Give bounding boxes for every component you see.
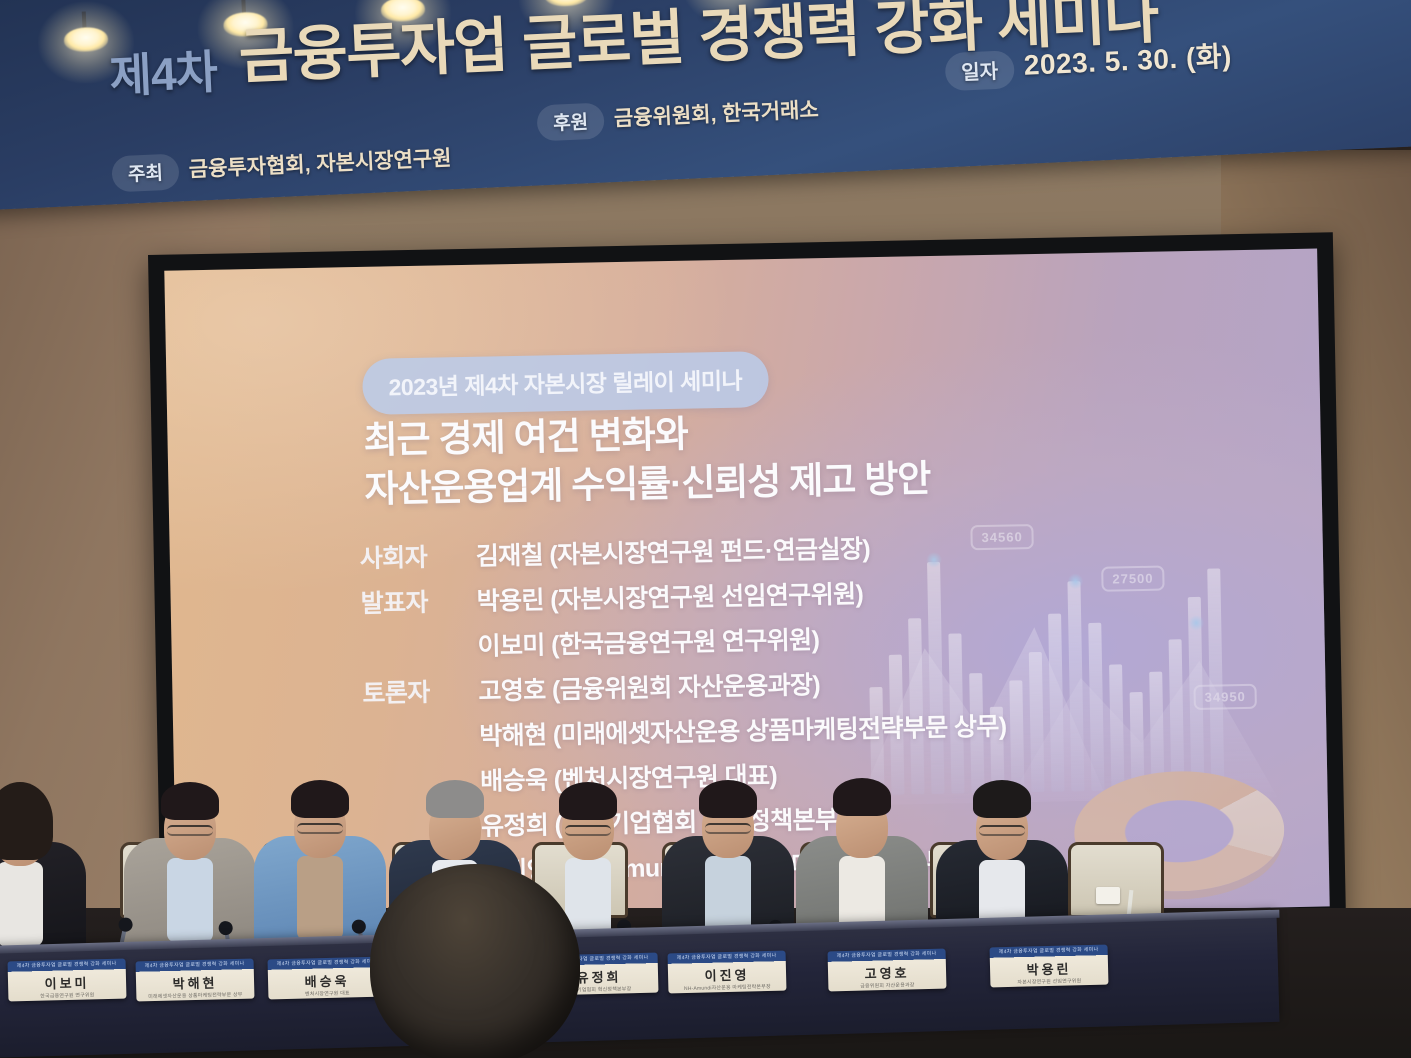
slide-tag: 2023년 제4차 자본시장 릴레이 세미나 bbox=[362, 351, 769, 415]
nameplate-subtitle: 미래에셋자산운용 상품마케팅전략부문 상무 bbox=[136, 991, 254, 1001]
conference-photo: 제4차 금융투자업 글로벌 경쟁력 강화 세미나 주최금융투자협회, 자본시장연… bbox=[0, 0, 1411, 1058]
roster-role: 토론자 bbox=[362, 672, 479, 710]
glasses-icon bbox=[565, 825, 611, 836]
roster-role: 사회자 bbox=[359, 537, 476, 575]
nameplate-subtitle: 한국금융연구원 연구위원 bbox=[8, 991, 126, 1001]
nameplate-header: 제4차 금융투자업 글로벌 경쟁력 강화 세미나 bbox=[268, 957, 386, 970]
roster-row: 이보미 (한국금융연구원 연구위원) bbox=[361, 617, 1005, 665]
nameplate-header: 제4차 금융투자업 글로벌 경쟁력 강화 세미나 bbox=[990, 945, 1108, 958]
bar bbox=[1169, 639, 1185, 789]
banner-date-label: 일자 bbox=[944, 51, 1014, 92]
chart-annotation: 34950 bbox=[1193, 684, 1257, 710]
roster-name: 고영호 (금융위원회 자산운용과장) bbox=[478, 665, 820, 708]
roster-row: 토론자 고영호 (금융위원회 자산운용과장) bbox=[362, 662, 1006, 710]
glasses-icon bbox=[297, 823, 343, 834]
nameplate-header: 제4차 금융투자업 글로벌 경쟁력 강화 세미나 bbox=[668, 951, 786, 964]
nameplate: 제4차 금융투자업 글로벌 경쟁력 강화 세미나 고영호 금융위원회 자산운용과… bbox=[828, 949, 947, 992]
nameplate-subtitle: 금융위원회 자산운용과장 bbox=[828, 981, 946, 991]
nameplate: 제4차 금융투자업 글로벌 경쟁력 강화 세미나 배승욱 벤처시장연구원 대표 bbox=[268, 957, 387, 1000]
bar bbox=[1109, 664, 1124, 790]
glasses-icon bbox=[979, 825, 1025, 836]
roster-role: 발표자 bbox=[360, 582, 477, 620]
nameplate-header: 제4차 금융투자업 글로벌 경쟁력 강화 세미나 bbox=[136, 959, 254, 972]
roster-name: 유정희 (벤처기업협회 혁신정책본부장) bbox=[481, 799, 868, 842]
nameplate-header: 제4차 금융투자업 글로벌 경쟁력 강화 세미나 bbox=[828, 949, 946, 962]
banner-host: 주최금융투자협회, 자본시장연구원 bbox=[111, 141, 452, 192]
glasses-icon bbox=[705, 823, 751, 834]
bar bbox=[1009, 680, 1024, 792]
nameplate-subtitle: NH-Amundi자산운용 마케팅전략본부장 bbox=[668, 983, 786, 993]
nameplate-header: 제4차 금융투자업 글로벌 경쟁력 강화 세미나 bbox=[8, 959, 126, 972]
chair bbox=[1068, 842, 1164, 918]
chart-annotation: 27500 bbox=[1101, 566, 1165, 592]
roster-row: 발표자 박용린 (자본시장연구원 선임연구위원) bbox=[360, 572, 1004, 620]
spotlight-icon bbox=[63, 26, 108, 54]
nameplate: 제4차 금융투자업 글로벌 경쟁력 강화 세미나 이보미 한국금융연구원 연구위… bbox=[8, 959, 127, 1002]
banner-sponsor-value: 금융위원회, 한국거래소 bbox=[614, 98, 820, 130]
nameplate: 제4차 금융투자업 글로벌 경쟁력 강화 세미나 박해현 미래에셋자산운용 상품… bbox=[136, 959, 255, 1002]
banner-date-value: 2023. 5. 30. (화) bbox=[1023, 41, 1232, 81]
badge bbox=[1096, 887, 1120, 904]
roster-role bbox=[362, 655, 478, 657]
glasses-icon bbox=[167, 825, 213, 836]
audience-member bbox=[370, 864, 580, 1058]
roster-name: 박용린 (자본시장연구원 선임연구위원) bbox=[476, 574, 863, 617]
bar bbox=[1088, 623, 1104, 791]
roster-name: 이보미 (한국금융연구원 연구위원) bbox=[477, 620, 819, 663]
bar bbox=[1048, 614, 1064, 792]
spark-icon bbox=[1067, 573, 1083, 589]
bar bbox=[1067, 581, 1084, 791]
roster-name: 박해현 (미래에셋자산운용 상품마케팅전략부문 상무) bbox=[479, 707, 1007, 753]
roster-name: 김재칠 (자본시장연구원 펀드·연금실장) bbox=[475, 529, 870, 573]
roster-role bbox=[363, 745, 479, 747]
slide-title: 최근 경제 여건 변화와 자산운용업계 수익률·신뢰성 제고 방안 bbox=[363, 406, 931, 515]
nameplate-subtitle: 벤처시장연구원 대표 bbox=[268, 989, 386, 999]
banner-sponsor: 후원금융위원회, 한국거래소 bbox=[536, 93, 819, 142]
banner-sponsor-label: 후원 bbox=[536, 103, 605, 142]
roster-row: 박해현 (미래에셋자산운용 상품마케팅전략부문 상무) bbox=[363, 707, 1007, 755]
banner-host-label: 주최 bbox=[111, 153, 180, 192]
banner-title-prefix: 제4차 bbox=[108, 36, 218, 107]
bar bbox=[1029, 652, 1045, 792]
banner-host-value: 금융투자협회, 자본시장연구원 bbox=[188, 147, 452, 182]
nameplate: 제4차 금융투자업 글로벌 경쟁력 강화 세미나 이진영 NH-Amundi자산… bbox=[668, 951, 787, 994]
nameplate: 제4차 금융투자업 글로벌 경쟁력 강화 세미나 박용린 자본시장연구원 선임연… bbox=[990, 945, 1109, 988]
spark-icon bbox=[1188, 615, 1204, 631]
nameplate-subtitle: 자본시장연구원 선임연구위원 bbox=[990, 977, 1108, 987]
